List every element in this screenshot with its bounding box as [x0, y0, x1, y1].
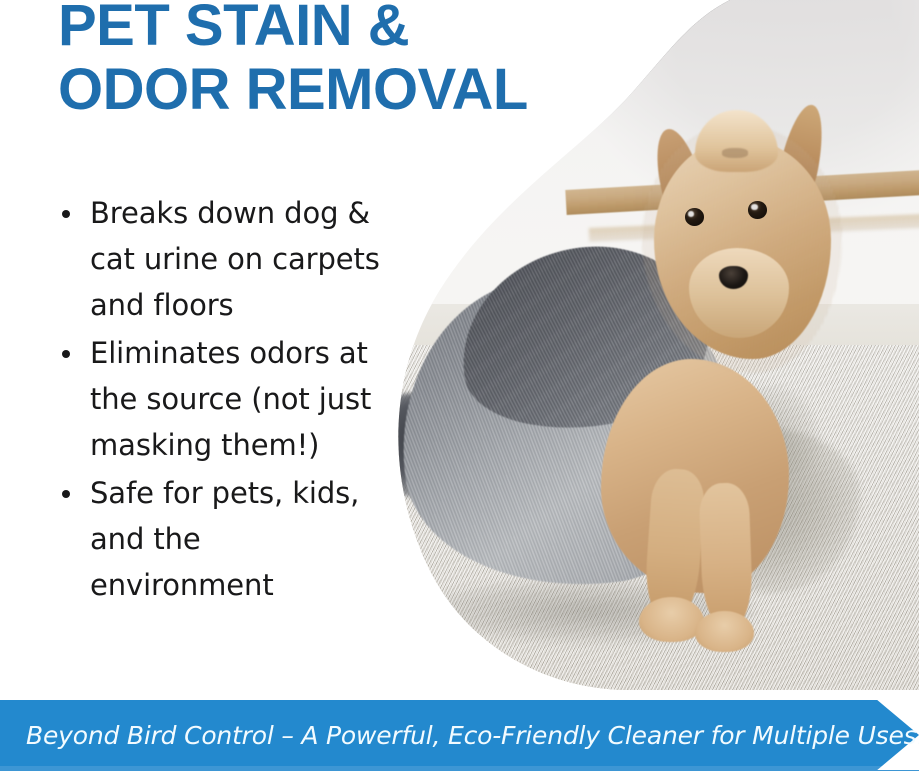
- list-item: Safe for pets, kids, and the environment: [56, 470, 386, 608]
- dog-eye-highlight-left: [688, 211, 694, 217]
- dog-front-leg-right: [699, 482, 754, 629]
- tagline-text: Beyond Bird Control – A Powerful, Eco-Fr…: [26, 700, 919, 770]
- dog-eye-highlight-right: [751, 204, 757, 210]
- product-feature-infographic: PET STAIN & ODOR REMOVAL Breaks down dog…: [0, 0, 919, 775]
- list-item: Breaks down dog & cat urine on carpets a…: [56, 190, 386, 328]
- page-title: PET STAIN & ODOR REMOVAL: [58, 0, 658, 122]
- benefits-list: Breaks down dog & cat urine on carpets a…: [56, 190, 386, 610]
- list-item: Eliminates odors at the source (not just…: [56, 330, 386, 468]
- dog-paw-right: [695, 611, 754, 652]
- dog-topknot-band: [722, 148, 749, 158]
